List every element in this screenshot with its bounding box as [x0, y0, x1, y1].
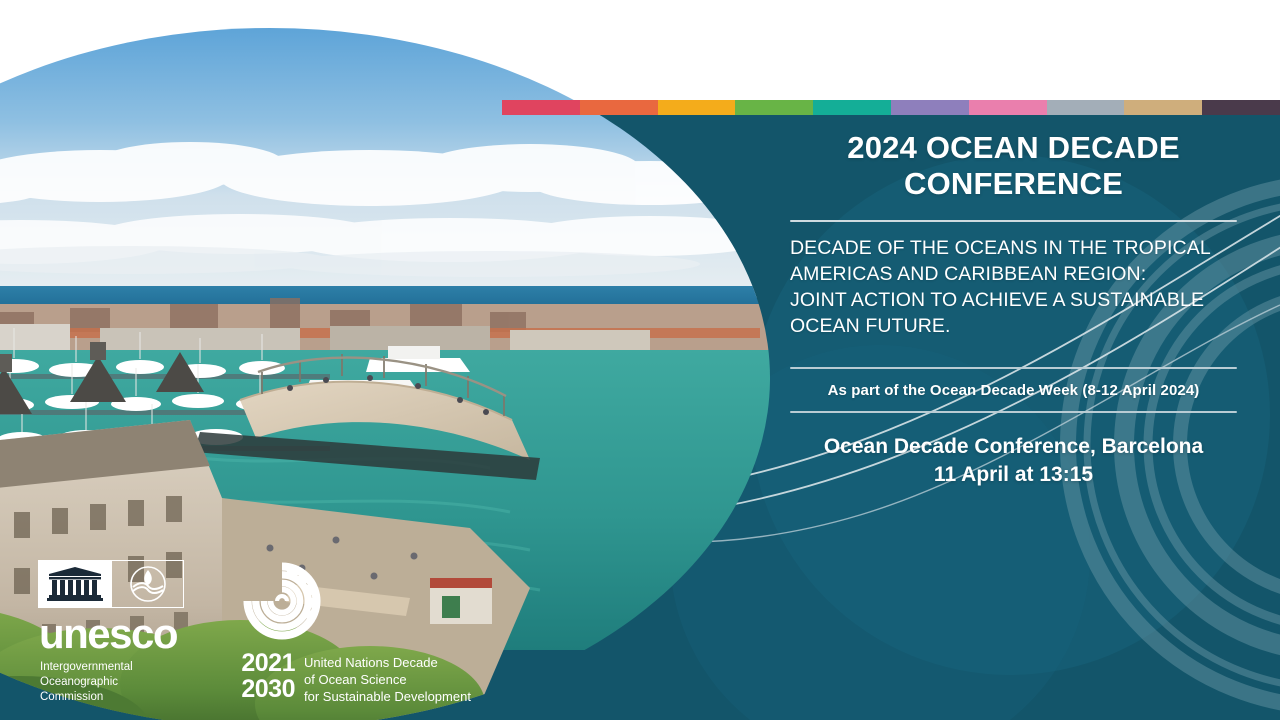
ocean-decade-text-line-1: United Nations Decade — [304, 654, 471, 671]
logo-row: unesco Intergovernmental Oceanographic C… — [38, 560, 513, 705]
ocean-decade-week-banner: As part of the Ocean Decade Week (8-12 A… — [790, 369, 1237, 411]
subtitle-line-1: DECADE OF THE OCEANS IN THE TROPICAL — [790, 236, 1237, 262]
ocean-decade-text-line-2: of Ocean Science — [304, 671, 471, 688]
color-strip-green — [735, 100, 813, 115]
ocean-decade-year-start: 2021 — [223, 651, 295, 677]
ocean-decade-caption: 2021 2030 United Nations Decade of Ocean… — [223, 651, 513, 705]
ocean-decade-logo: 2021 2030 United Nations Decade of Ocean… — [223, 560, 513, 705]
unesco-subtitle-line-3: Commission — [40, 690, 198, 705]
page-title: 2024 OCEAN DECADE CONFERENCE — [790, 130, 1237, 202]
subtitle-line-3: JOINT ACTION TO ACHIEVE A SUSTAINABLE — [790, 288, 1237, 314]
divider-below-banner — [790, 411, 1237, 413]
ocean-decade-text: United Nations Decade of Ocean Science f… — [304, 654, 471, 705]
ocean-decade-year-end: 2030 — [223, 677, 295, 703]
title-line-2: CONFERENCE — [904, 166, 1123, 201]
color-strip-plum — [1202, 100, 1280, 115]
color-strip-gray-blue — [1047, 100, 1125, 115]
color-strip-orange — [580, 100, 658, 115]
ocean-decade-text-line-3: for Sustainable Development — [304, 688, 471, 705]
ocean-decade-years: 2021 2030 — [223, 651, 295, 702]
subtitle-line-2: AMERICAS AND CARIBBEAN REGION: — [790, 262, 1237, 288]
unesco-wordmark: unesco — [39, 613, 198, 655]
venue-line-1: Ocean Decade Conference, Barcelona — [790, 433, 1237, 461]
unesco-emblems — [38, 560, 184, 608]
brand-color-strip — [502, 100, 1280, 115]
divider-under-title — [790, 220, 1237, 222]
subtitle-line-4: OCEAN FUTURE. — [790, 314, 1237, 340]
conference-slide: 2024 OCEAN DECADE CONFERENCE DECADE OF T… — [0, 0, 1280, 720]
unesco-ioc-logo: unesco Intergovernmental Oceanographic C… — [38, 560, 198, 705]
color-strip-crimson — [502, 100, 580, 115]
color-strip-khaki — [1124, 100, 1202, 115]
unesco-subtitle: Intergovernmental Oceanographic Commissi… — [40, 660, 198, 705]
subtitle-block: DECADE OF THE OCEANS IN THE TROPICAL AME… — [790, 236, 1237, 340]
slide-content: 2024 OCEAN DECADE CONFERENCE DECADE OF T… — [790, 130, 1237, 489]
title-line-1: 2024 OCEAN DECADE — [847, 130, 1179, 165]
color-strip-amber — [658, 100, 736, 115]
unesco-subtitle-line-2: Oceanographic — [40, 675, 198, 690]
unesco-temple-icon — [38, 560, 112, 608]
ocean-decade-spiral-icon — [241, 560, 513, 647]
color-strip-pink — [969, 100, 1047, 115]
color-strip-teal-green — [813, 100, 891, 115]
venue-line-2: 11 April at 13:15 — [790, 461, 1237, 489]
ioc-wave-icon — [112, 560, 184, 608]
venue-block: Ocean Decade Conference, Barcelona 11 Ap… — [790, 433, 1237, 490]
color-strip-purple — [891, 100, 969, 115]
unesco-subtitle-line-1: Intergovernmental — [40, 660, 198, 675]
